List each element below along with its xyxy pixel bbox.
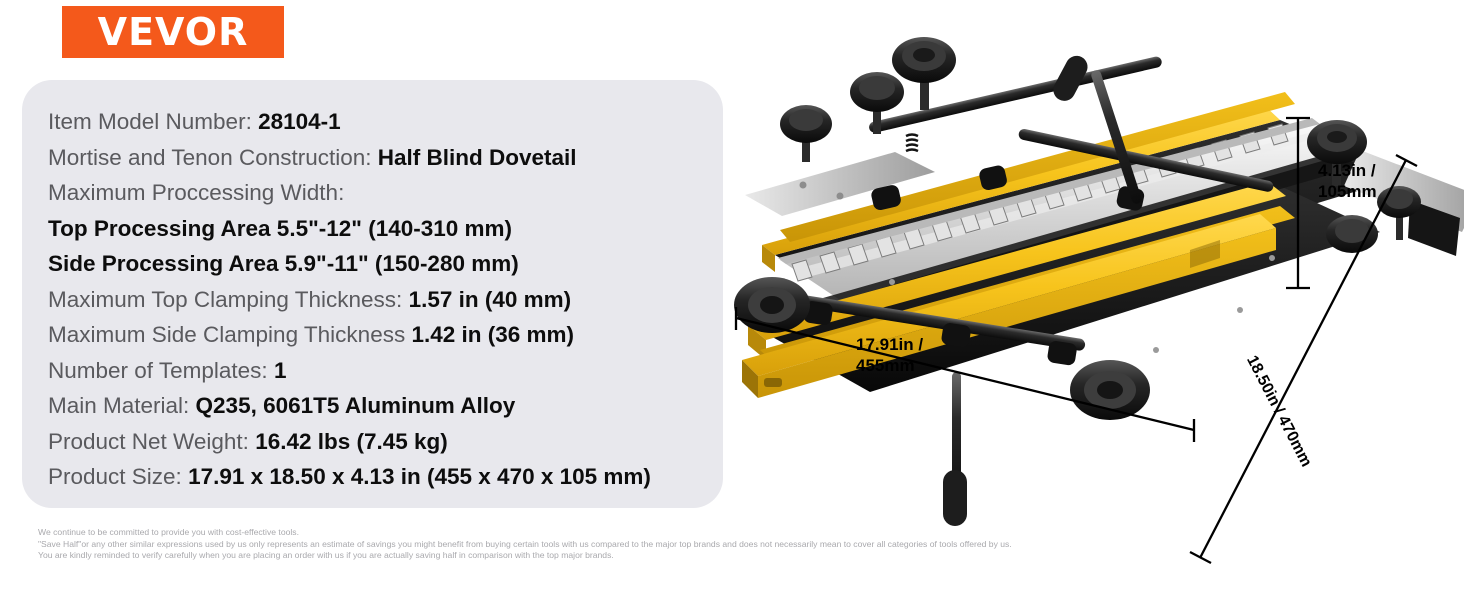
- spec-label: Maximum Side Clamping Thickness: [48, 322, 411, 347]
- spec-row: Item Model Number: 28104-1: [48, 104, 723, 140]
- height-dimension-label: 4.13in / 105mm: [1318, 160, 1377, 202]
- spec-value: 1: [274, 358, 287, 383]
- spec-value: Q235, 6061T5 Aluminum Alloy: [196, 393, 516, 418]
- spec-label: Side Processing Area 5.9"-11" (150-280 m…: [48, 251, 519, 276]
- dimension-lines: [720, 0, 1464, 600]
- spec-value: Half Blind Dovetail: [378, 145, 577, 170]
- spec-label: Mortise and Tenon Construction:: [48, 145, 378, 170]
- spec-label: Top Processing Area 5.5"-12" (140-310 mm…: [48, 216, 512, 241]
- brand-name: VEVOR: [98, 13, 249, 51]
- spec-row: Top Processing Area 5.5"-12" (140-310 mm…: [48, 211, 723, 247]
- spec-label: Product Size:: [48, 464, 188, 489]
- width-dim-line: [736, 318, 1194, 430]
- spec-label: Number of Templates:: [48, 358, 274, 383]
- spec-row: Product Net Weight: 16.42 lbs (7.45 kg): [48, 424, 723, 460]
- product-spec-sheet: VEVOR Item Model Number: 28104-1 Mortise…: [0, 0, 1464, 600]
- spec-label: Product Net Weight:: [48, 429, 255, 454]
- spec-label: Maximum Top Clamping Thickness:: [48, 287, 409, 312]
- spec-value: 28104-1: [258, 109, 341, 134]
- specification-panel: Item Model Number: 28104-1 Mortise and T…: [22, 80, 723, 508]
- spec-row: Main Material: Q235, 6061T5 Aluminum All…: [48, 388, 723, 424]
- spec-row: Side Processing Area 5.9"-11" (150-280 m…: [48, 246, 723, 282]
- product-image: 4.13in / 105mm 17.91in / 455mm 18.50in /…: [720, 0, 1464, 600]
- spec-value: 1.57 in (40 mm): [409, 287, 572, 312]
- spec-label: Maximum Proccessing Width:: [48, 180, 344, 205]
- depth-dim-line: [1200, 160, 1406, 558]
- vevor-logo: VEVOR: [62, 6, 284, 58]
- spec-row: Number of Templates: 1: [48, 353, 723, 389]
- spec-row: Mortise and Tenon Construction: Half Bli…: [48, 140, 723, 176]
- spec-row: Maximum Top Clamping Thickness: 1.57 in …: [48, 282, 723, 318]
- spec-value: 17.91 x 18.50 x 4.13 in (455 x 470 x 105…: [188, 464, 651, 489]
- spec-row: Maximum Proccessing Width:: [48, 175, 723, 211]
- spec-label: Main Material:: [48, 393, 196, 418]
- width-dimension-label: 17.91in / 455mm: [856, 334, 923, 376]
- spec-label: Item Model Number:: [48, 109, 258, 134]
- spec-row: Maximum Side Clamping Thickness 1.42 in …: [48, 317, 723, 353]
- spec-value: 1.42 in (36 mm): [411, 322, 574, 347]
- spec-row: Product Size: 17.91 x 18.50 x 4.13 in (4…: [48, 459, 723, 495]
- spec-value: 16.42 lbs (7.45 kg): [255, 429, 448, 454]
